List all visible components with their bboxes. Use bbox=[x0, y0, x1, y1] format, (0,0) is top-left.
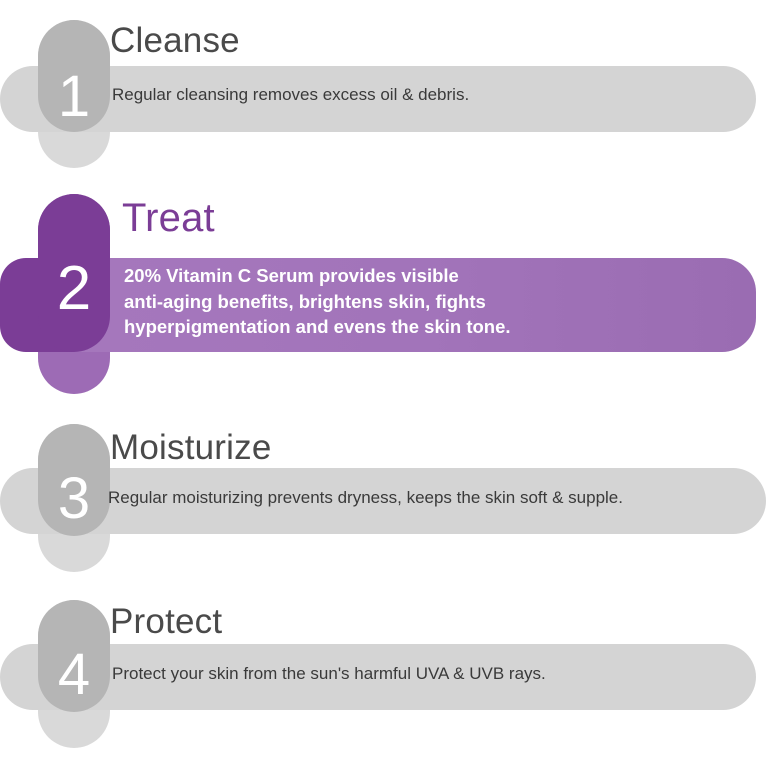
step-body-1: Regular cleansing removes excess oil & d… bbox=[112, 84, 469, 105]
step-number-1: 1 bbox=[38, 68, 110, 126]
step-number-4: 4 bbox=[38, 646, 110, 704]
step-heading-1: Cleanse bbox=[110, 21, 240, 61]
step-number-2: 2 bbox=[38, 258, 110, 320]
step-body-4: Protect your skin from the sun's harmful… bbox=[112, 663, 546, 684]
step-heading-3: Moisturize bbox=[110, 428, 271, 468]
step-heading-4: Protect bbox=[110, 602, 222, 642]
step-body-3: Regular moisturizing prevents dryness, k… bbox=[108, 487, 623, 508]
skincare-routine-infographic: 1 Cleanse Regular cleansing removes exce… bbox=[0, 0, 768, 768]
step-number-3: 3 bbox=[38, 470, 110, 528]
step-heading-2: Treat bbox=[122, 196, 215, 241]
step-body-2: 20% Vitamin C Serum provides visible ant… bbox=[124, 263, 511, 340]
